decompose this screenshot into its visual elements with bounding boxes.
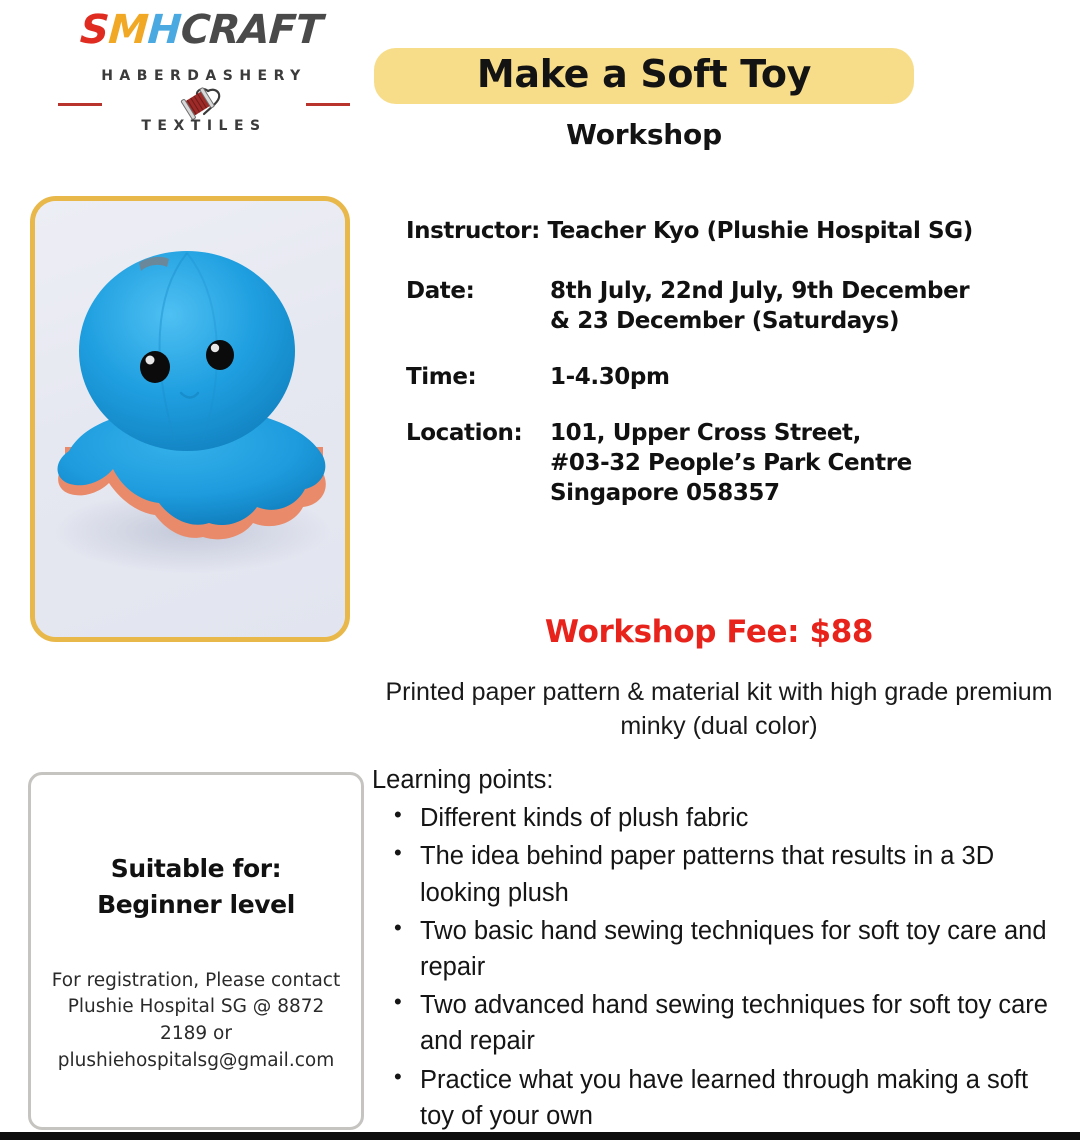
- logo-dash-right: [306, 103, 350, 106]
- suitable-for-line1: Suitable for:: [31, 851, 361, 887]
- date-line-2: & 23 December (Saturdays): [550, 308, 1056, 334]
- time-line-1: 1-4.30pm: [550, 364, 1056, 390]
- list-item: Different kinds of plush fabric: [420, 800, 1056, 836]
- logo-wordmark: SMHCRAFT: [35, 10, 368, 50]
- detail-label-date: Date:: [406, 278, 550, 338]
- octopus-plush-illustration: [35, 201, 345, 637]
- detail-row-time: Time: 1-4.30pm: [406, 364, 1056, 394]
- bottom-edge-band: [0, 1132, 1080, 1140]
- learning-points-heading: Learning points:: [372, 762, 1056, 798]
- workshop-details: Instructor: Teacher Kyo (Plushie Hospita…: [406, 218, 1056, 536]
- brand-logo: SMHCRAFT HABERDASHERY: [36, 2, 366, 154]
- workshop-fee-note: Printed paper pattern & material kit wit…: [384, 676, 1054, 744]
- logo-tagline-haberdashery: HABERDASHERY: [36, 68, 366, 84]
- page-title: Make a Soft Toy: [477, 52, 811, 96]
- date-line-1: 8th July, 22nd July, 9th December: [550, 278, 1056, 304]
- title-highlight-bar: Make a Soft Toy: [374, 48, 914, 104]
- detail-value-time: 1-4.30pm: [550, 364, 1056, 394]
- logo-letter-h: H: [146, 7, 182, 53]
- logo-word-craft: CRAFT: [179, 7, 323, 53]
- logo-letter-m: M: [107, 7, 150, 53]
- detail-value-location: 101, Upper Cross Street, #03-32 People’s…: [550, 420, 1056, 510]
- workshop-fee: Workshop Fee: $88: [374, 614, 1044, 650]
- blue-octopus-plush-photo: [30, 196, 350, 642]
- list-item: Practice what you have learned through m…: [420, 1062, 1056, 1134]
- detail-row-date: Date: 8th July, 22nd July, 9th December …: [406, 278, 1056, 338]
- header-titles: Make a Soft Toy Workshop: [374, 48, 914, 151]
- location-line-1: 101, Upper Cross Street,: [550, 420, 1056, 446]
- logo-dash-left: [58, 103, 102, 106]
- logo-letter-s: S: [79, 7, 111, 53]
- location-line-2: #03-32 People’s Park Centre: [550, 450, 1056, 476]
- page-subtitle: Workshop: [374, 118, 914, 151]
- list-item: Two advanced hand sewing techniques for …: [420, 987, 1056, 1059]
- suitable-for-line2: Beginner level: [31, 887, 361, 923]
- learning-points-list: Different kinds of plush fabric The idea…: [372, 800, 1056, 1134]
- detail-row-location: Location: 101, Upper Cross Street, #03-3…: [406, 420, 1056, 510]
- registration-contact-text: For registration, Please contact Plushie…: [31, 968, 361, 1075]
- list-item: Two basic hand sewing techniques for sof…: [420, 913, 1056, 985]
- thread-spool-needle-icon: [178, 86, 224, 125]
- instructor-line: Instructor: Teacher Kyo (Plushie Hospita…: [406, 218, 1056, 244]
- suitable-for-box: Suitable for: Beginner level For registr…: [28, 772, 364, 1130]
- detail-value-date: 8th July, 22nd July, 9th December & 23 D…: [550, 278, 1056, 338]
- detail-label-location: Location:: [406, 420, 550, 510]
- list-item: The idea behind paper patterns that resu…: [420, 838, 1056, 910]
- location-line-3: Singapore 058357: [550, 480, 1056, 506]
- suitable-for-title: Suitable for: Beginner level: [31, 851, 361, 924]
- detail-label-time: Time:: [406, 364, 550, 394]
- logo-divider-row: [36, 86, 366, 122]
- learning-points-section: Learning points: Different kinds of plus…: [372, 762, 1056, 1136]
